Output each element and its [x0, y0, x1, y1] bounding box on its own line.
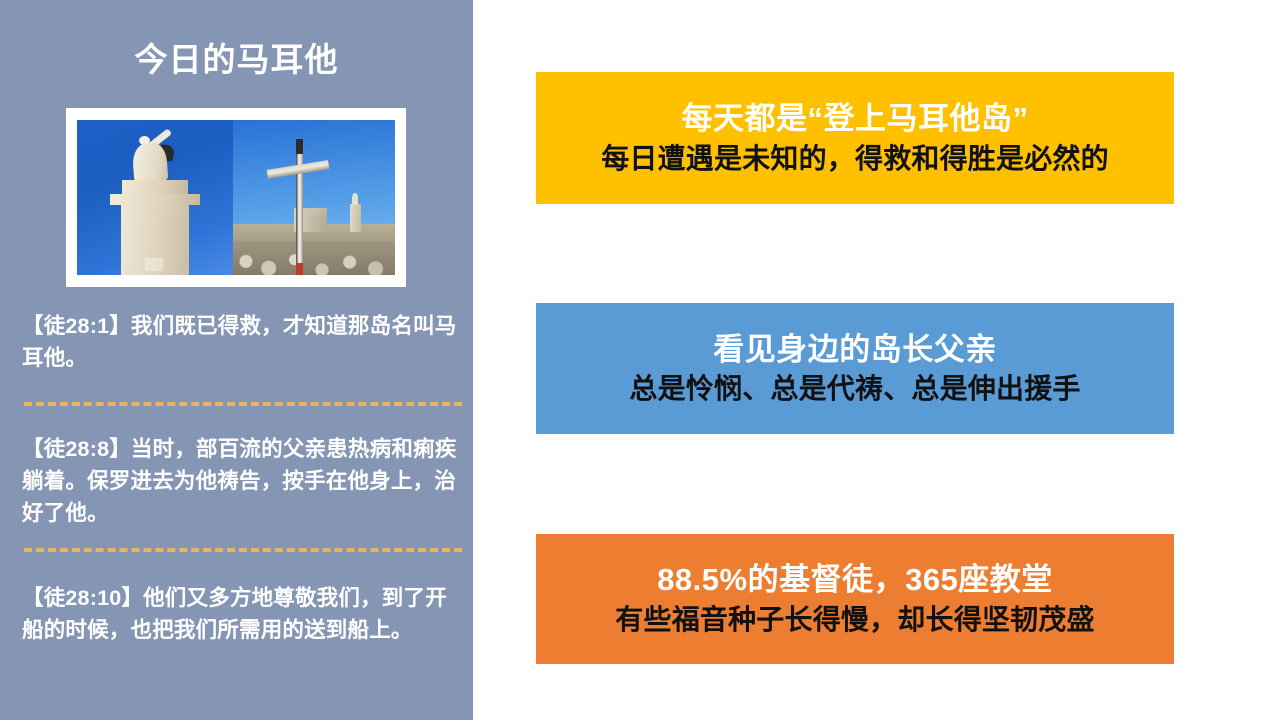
callout-daily-landing: 每天都是“登上马耳他岛” 每日遭遇是未知的，得救和得胜是必然的	[536, 72, 1174, 204]
scripture-verse-acts-28-1: 【徒28:1】我们既已得救，才知道那岛名叫马耳他。	[22, 311, 462, 375]
dashed-divider	[24, 402, 462, 406]
callout-island-father: 看见身边的岛长父亲 总是怜悯、总是代祷、总是伸出援手	[536, 303, 1174, 434]
dashed-divider	[24, 548, 462, 552]
cross-base-marker	[296, 263, 303, 275]
callout-headline: 每天都是“登上马耳他岛”	[682, 100, 1029, 138]
callout-subline: 每日遭遇是未知的，得救和得胜是必然的	[601, 142, 1109, 176]
statue-body-shape	[132, 142, 169, 183]
statue-monument-photo	[77, 120, 233, 275]
photo-frame	[66, 108, 406, 287]
cross-vertical-beam	[296, 142, 303, 275]
ruin-wall-secondary-shape	[307, 215, 326, 232]
scripture-verse-acts-28-8: 【徒28:8】当时，部百流的父亲患热病和痢疾躺着。保罗进去为他祷告，按手在他身上…	[22, 434, 462, 529]
statue-base-shape	[121, 204, 190, 275]
callout-subline: 总是怜悯、总是代祷、总是伸出援手	[629, 372, 1080, 406]
callout-statistics: 88.5%的基督徒，365座教堂 有些福音种子长得慢，却长得坚韧茂盛	[536, 534, 1174, 664]
page-title: 今日的马耳他	[0, 40, 473, 80]
photo-pair	[77, 120, 395, 275]
scripture-verse-acts-28-10: 【徒28:10】他们又多方地尊敬我们，到了开船的时候，也把我们所需用的送到船上。	[22, 583, 462, 647]
base-plaque-shape	[145, 258, 163, 271]
callout-headline: 看见身边的岛长父亲	[713, 331, 997, 369]
sidebar-panel: 今日的马耳他	[0, 0, 473, 720]
cross-top-cap	[296, 139, 303, 155]
slide-canvas: 今日的马耳他	[0, 0, 1280, 720]
callout-subline: 有些福音种子长得慢，却长得坚韧茂盛	[615, 603, 1094, 637]
hilltop-cross-photo	[233, 120, 395, 275]
callout-headline: 88.5%的基督徒，365座教堂	[657, 561, 1053, 599]
rocky-ground-shape	[233, 241, 395, 275]
distant-statue-shape	[352, 193, 358, 205]
distant-monument-shape	[350, 204, 361, 232]
